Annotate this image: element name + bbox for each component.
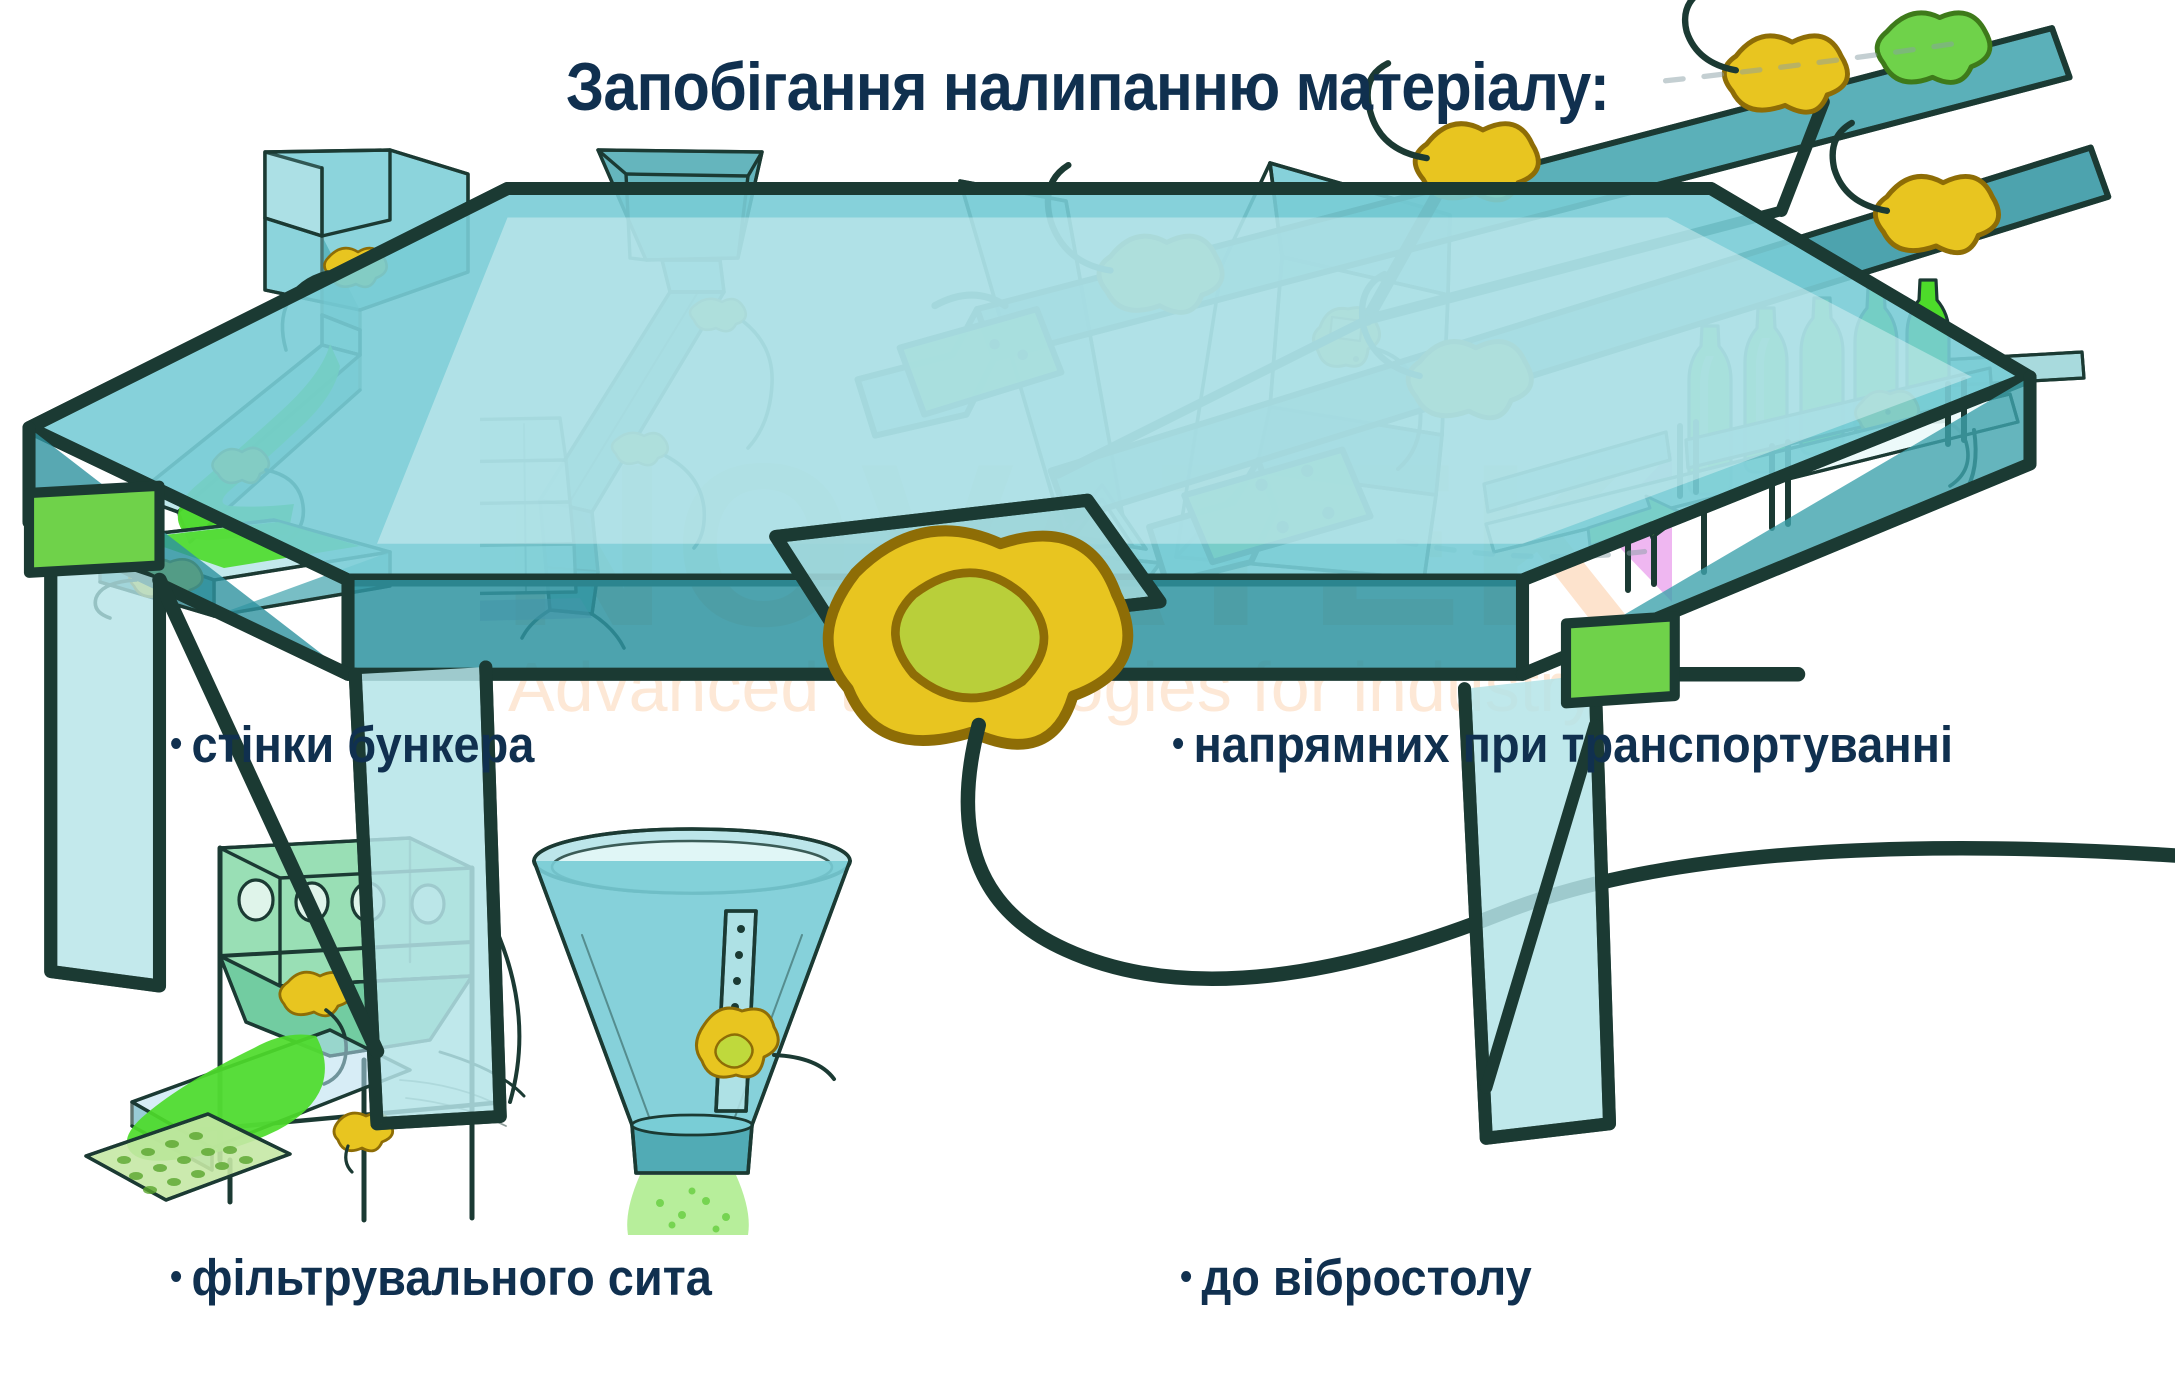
caption-filter-sieve: •фільтрувального сита [170, 1248, 712, 1307]
caption-hopper-walls-label: стінки бункера [191, 716, 534, 773]
bullet-icon: • [1172, 723, 1184, 766]
page-title: Запобігання налипанню матеріалу: [109, 48, 2067, 126]
caption-vibrating-table-label: до вібростолу [1201, 1249, 1531, 1306]
illustration-vibrating-table [0, 0, 2175, 1233]
bullet-icon: • [170, 723, 182, 766]
caption-hopper-walls: •стінки бункера [170, 715, 534, 774]
caption-filter-sieve-label: фільтрувального сита [191, 1249, 711, 1306]
slide-root: NOVATEK Advanced technologies for indust… [0, 0, 2175, 1397]
caption-vibrating-table: •до вібростолу [1180, 1248, 1532, 1307]
caption-transport-guides: •напрямних при транспортуванні [1172, 715, 1953, 774]
caption-transport-guides-label: напрямних при транспортуванні [1193, 716, 1953, 773]
bullet-icon: • [170, 1256, 182, 1299]
bullet-icon: • [1180, 1256, 1192, 1299]
